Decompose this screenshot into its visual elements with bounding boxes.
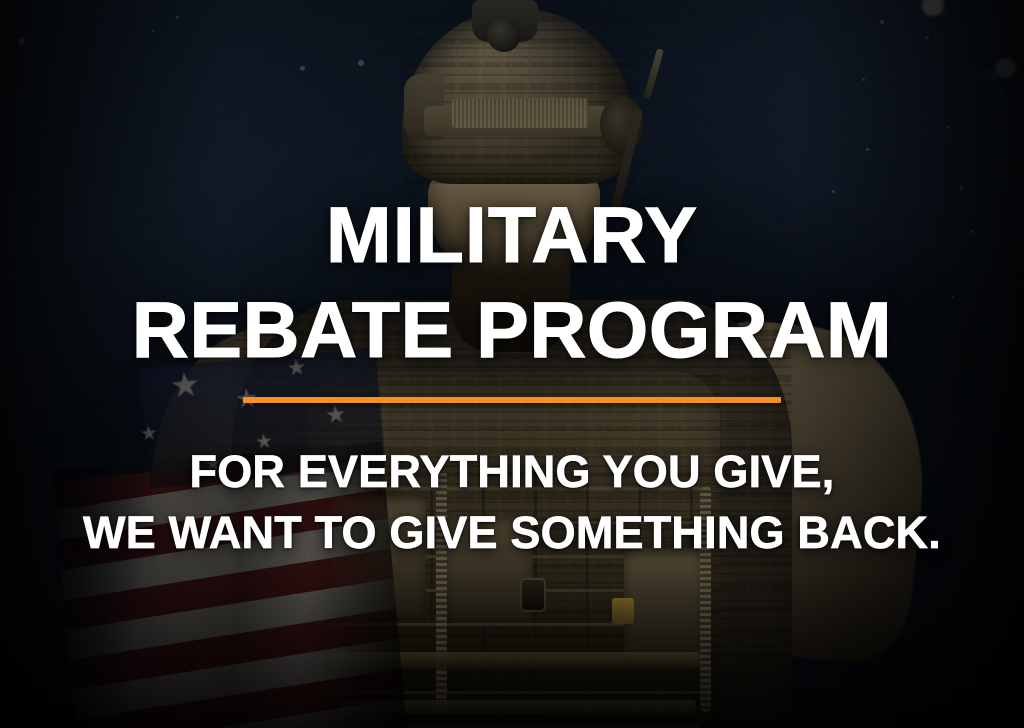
subtitle-line-1: FOR EVERYTHING YOU GIVE, [190,445,835,498]
military-rebate-banner: ★ ★ ★ ★ ★ ★ ★ MILITARY REBATE PROGRAM FO… [0,0,1024,728]
orange-divider-rule [243,397,781,403]
banner-copy: MILITARY REBATE PROGRAM FOR EVERYTHING Y… [0,0,1024,728]
subtitle-line-2: WE WANT TO GIVE SOMETHING BACK. [83,506,941,559]
headline-line-2: REBATE PROGRAM [132,291,892,368]
headline-line-1: MILITARY [326,196,698,273]
